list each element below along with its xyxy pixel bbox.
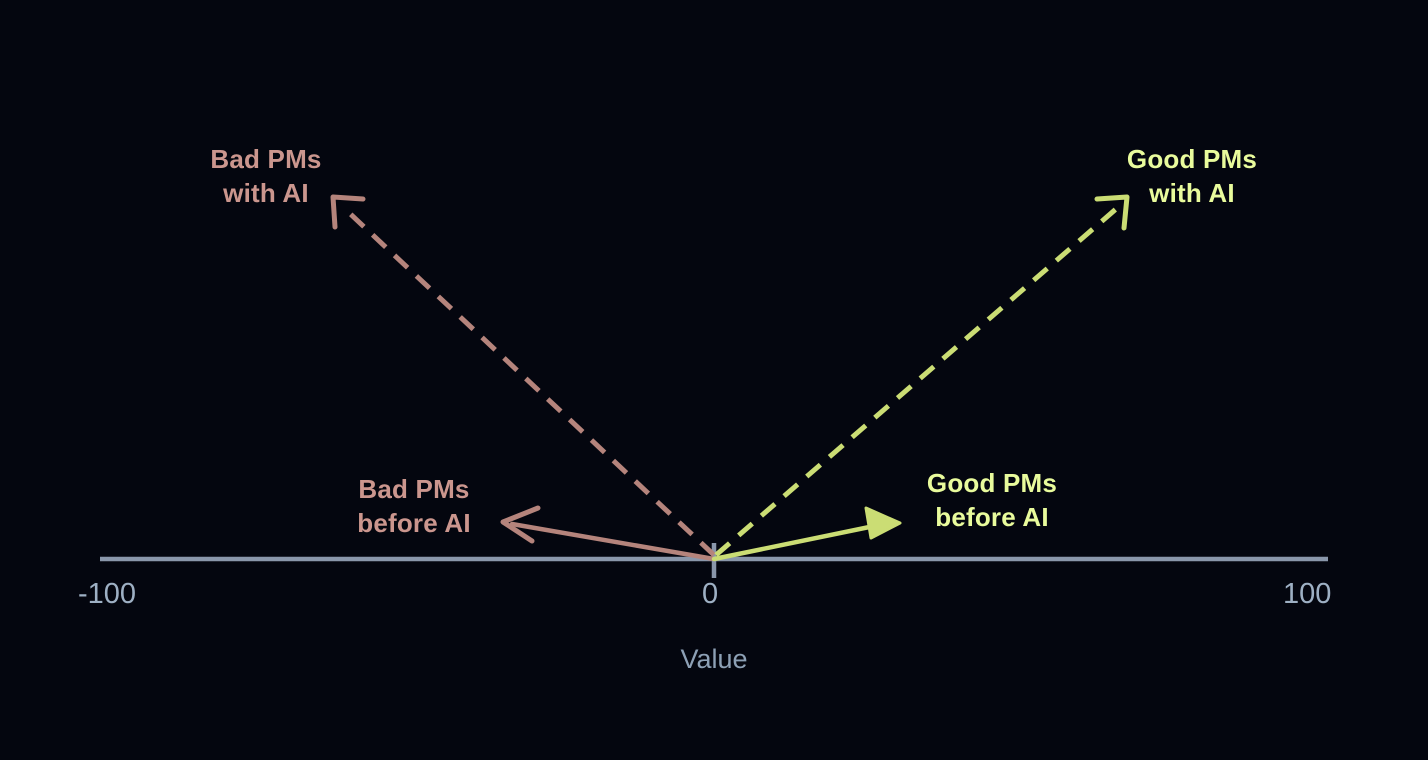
x-tick-label-max: 100 [1283, 578, 1331, 611]
arrowhead-good-before-ai [866, 508, 900, 538]
x-tick-label-zero: 0 [702, 578, 718, 611]
arrow-bad-pms-before-ai [503, 508, 714, 559]
arrow-bad-pms-with-ai [333, 197, 714, 555]
x-tick-label-min: -100 [78, 578, 136, 611]
chart-canvas: Bad PMs with AI Good PMs with AI Bad PMs… [0, 0, 1428, 760]
x-axis-title: Value [614, 644, 814, 675]
arrow-good-pms-with-ai [716, 197, 1127, 555]
